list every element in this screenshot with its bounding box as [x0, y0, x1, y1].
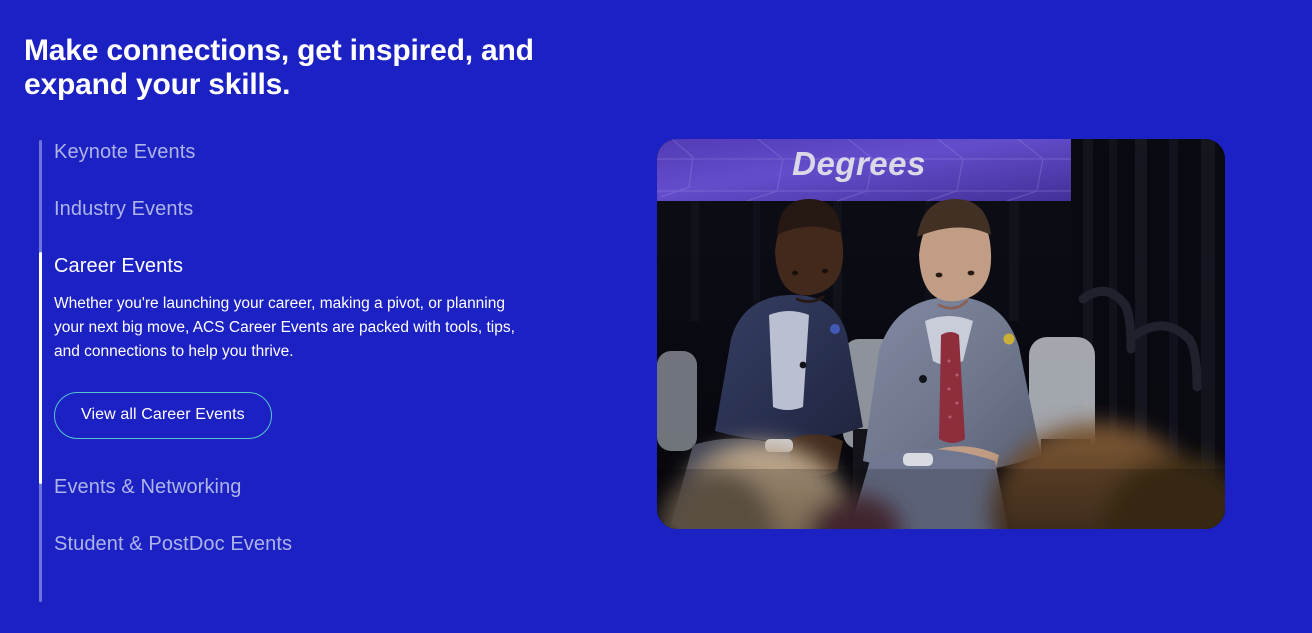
- accordion-item-events-networking[interactable]: Events & Networking: [54, 475, 584, 499]
- accordion-panel-career-events: Whether you're launching your career, ma…: [54, 278, 584, 443]
- view-all-career-events-button[interactable]: View all Career Events: [54, 392, 272, 439]
- accordion-item-career-events[interactable]: Career Events Whether you're launching y…: [54, 254, 584, 443]
- events-accordion: Keynote Events Industry Events Career Ev…: [39, 140, 584, 556]
- accordion-rail-active-indicator: [39, 252, 42, 484]
- accordion-item-student-postdoc-events[interactable]: Student & PostDoc Events: [54, 532, 584, 556]
- events-accordion-page: Make connections, get inspired, and expa…: [0, 0, 1312, 633]
- accordion-item-industry-events[interactable]: Industry Events: [54, 197, 584, 221]
- panel-discussion-photo: Degrees: [657, 139, 1225, 529]
- accordion-item-label[interactable]: Events & Networking: [54, 475, 584, 499]
- accordion-item-label[interactable]: Industry Events: [54, 197, 584, 221]
- accordion-item-label[interactable]: Career Events: [54, 254, 584, 278]
- panel-photo-illustration: Degrees: [657, 139, 1225, 529]
- accordion-item-label[interactable]: Student & PostDoc Events: [54, 532, 584, 556]
- accordion-panel-description: Whether you're launching your career, ma…: [54, 292, 524, 364]
- page-title: Make connections, get inspired, and expa…: [24, 34, 584, 102]
- accordion-item-keynote-events[interactable]: Keynote Events: [54, 140, 584, 164]
- accordion-item-label[interactable]: Keynote Events: [54, 140, 584, 164]
